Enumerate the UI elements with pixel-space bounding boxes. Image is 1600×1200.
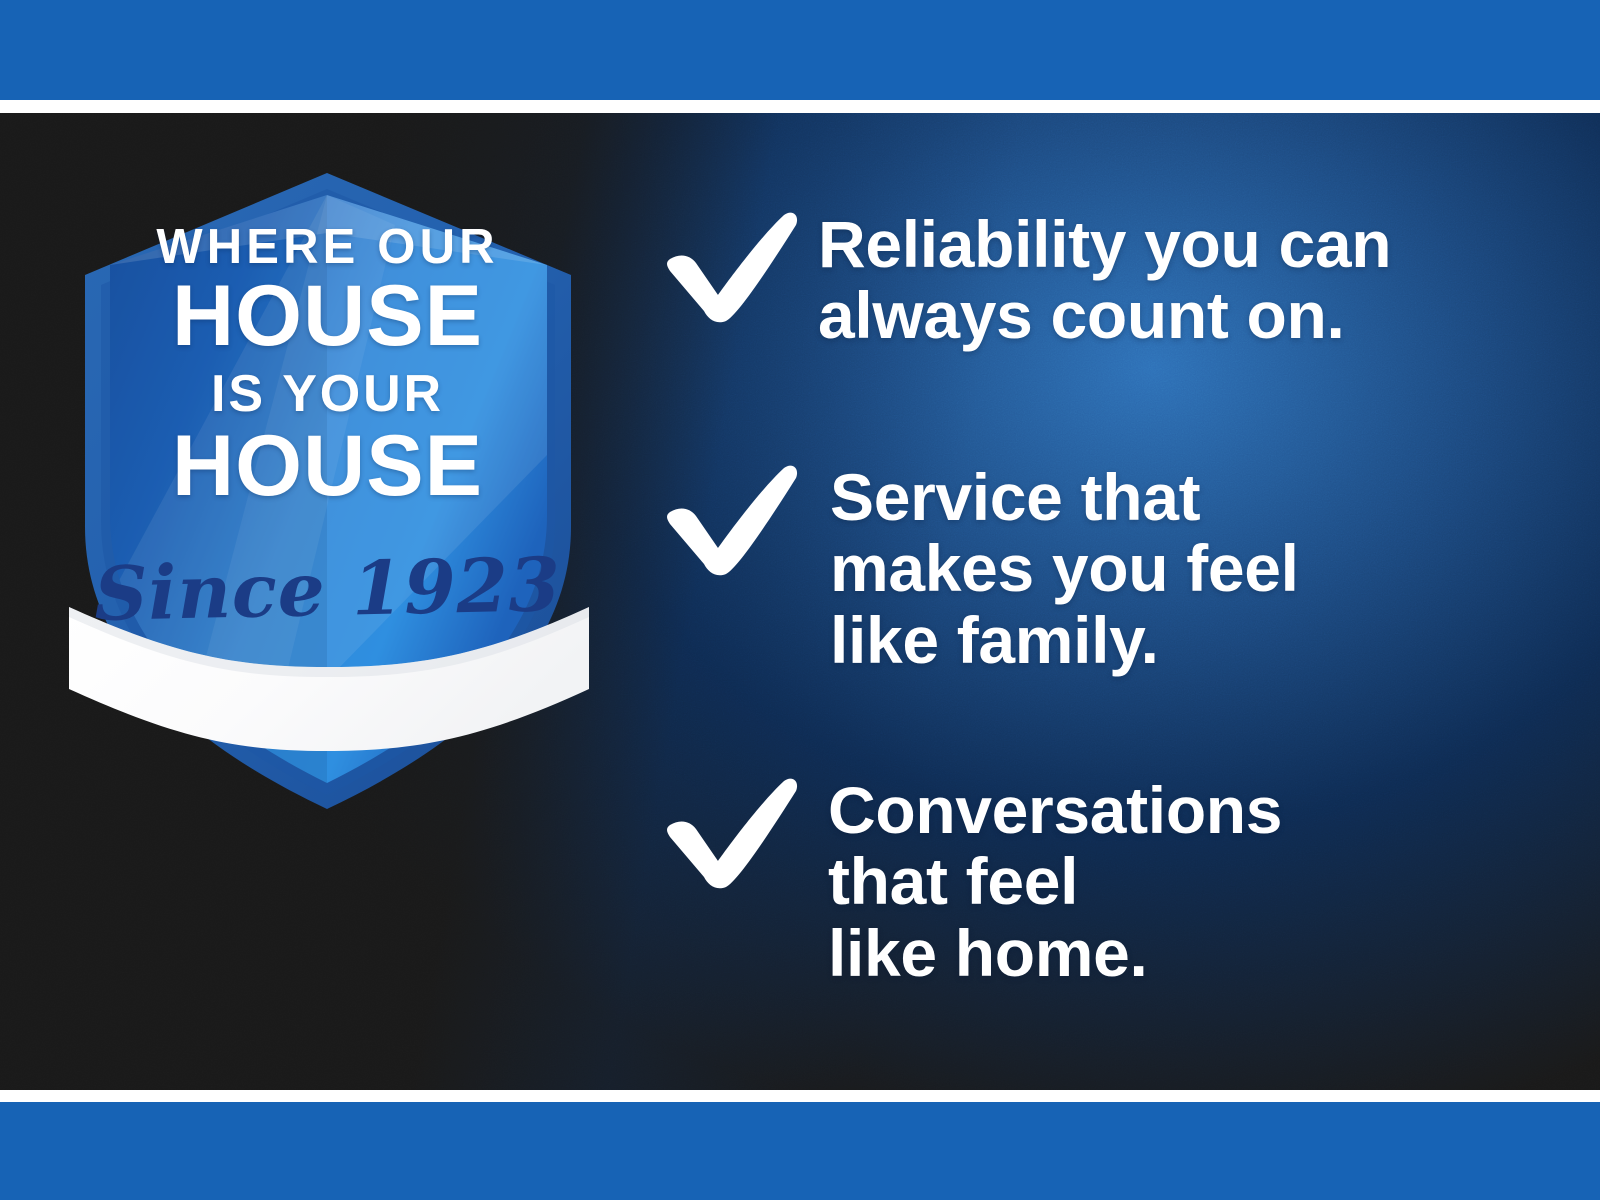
bottom-brand-bar	[0, 1102, 1600, 1200]
benefit-item-2: Service that makes you feel like family.	[660, 458, 1299, 676]
benefit-item-1: Reliability you can always count on.	[660, 205, 1391, 352]
checkmark-icon	[660, 773, 800, 891]
benefit-item-3: Conversations that feel like home.	[660, 771, 1282, 989]
shield-badge: WHERE OUR HOUSE IS YOUR HOUSE Since 1923	[55, 155, 600, 795]
promo-graphic: WHERE OUR HOUSE IS YOUR HOUSE Since 1923…	[0, 0, 1600, 1200]
benefit-text-2: Service that makes you feel like family.	[830, 458, 1299, 676]
checkmark-icon	[660, 207, 800, 325]
checkmark-icon	[660, 460, 800, 578]
benefit-text-3: Conversations that feel like home.	[828, 771, 1282, 989]
top-brand-bar	[0, 0, 1600, 100]
benefit-text-1: Reliability you can always count on.	[818, 205, 1391, 352]
benefits-list: Reliability you can always count on. Ser…	[660, 113, 1540, 1090]
